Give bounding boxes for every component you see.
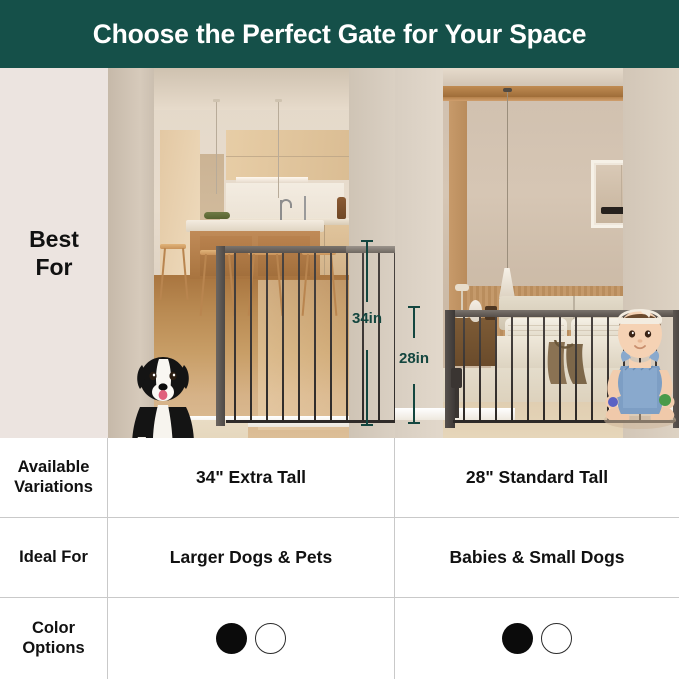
dimension-line-lower-34in: [366, 350, 368, 424]
row-label-color-options: Color Options: [0, 598, 108, 679]
dimension-callout-34in: 34in: [356, 238, 395, 428]
dimension-line-upper-34in: [366, 240, 368, 302]
kitchen-bowl-fruit: [204, 212, 230, 219]
color-swatch-group-28in: [502, 623, 572, 654]
row-label-line-1: Color: [22, 619, 84, 639]
kitchen-vase-dark: [337, 197, 346, 219]
kitchen-cabinet-seam: [226, 156, 366, 157]
table-row: Ideal For Larger Dogs & Pets Babies & Sm…: [0, 518, 679, 598]
gate-34in-bar: [250, 253, 252, 421]
gate-28in-bar: [559, 317, 561, 421]
hero-label-line-1: Best: [29, 225, 79, 253]
cell-variations-34in: 34" Extra Tall: [108, 438, 395, 517]
gate-28in-latch: [451, 368, 462, 388]
cell-ideal-for-28in: Babies & Small Dogs: [395, 518, 679, 597]
dimension-text-34in: 34in: [352, 310, 382, 327]
bedroom-pendant-cord: [507, 90, 508, 270]
bedroom-carpet: [443, 368, 623, 402]
gate-28in-bar: [495, 317, 497, 421]
gate-28in-bar: [527, 317, 529, 421]
kitchen-pendant-cord-2: [278, 102, 279, 198]
color-swatch-black[interactable]: [502, 623, 533, 654]
product-photo-kitchen-34in: 34in: [108, 68, 395, 438]
gate-28in-bar: [591, 317, 593, 421]
border-collie-dog-illustration: [114, 345, 210, 438]
dimension-line-upper-28in: [413, 306, 415, 338]
gate-28in-bar: [511, 317, 513, 421]
dimension-cap-bottom-34in: [361, 424, 373, 426]
cell-ideal-for-34in: Larger Dogs & Pets: [108, 518, 395, 597]
hero-label-line-2: For: [29, 253, 79, 281]
gate-34in-left-post: [216, 246, 225, 426]
page-header-banner: Choose the Perfect Gate for Your Space: [0, 0, 679, 68]
kitchen-faucet-arc: [280, 199, 292, 208]
kitchen-floating-shelf: [236, 177, 308, 183]
bedroom-draped-bag: [543, 340, 595, 386]
row-label-line-1: Available: [14, 458, 93, 478]
dimension-cap-bottom-28in: [408, 422, 420, 424]
bedroom-artwork-divider: [621, 165, 622, 223]
baby-illustration: [599, 304, 679, 429]
bedroom-crown-molding: [443, 86, 623, 97]
dimension-callout-28in: 28in: [403, 304, 443, 428]
row-label-line-1: Ideal For: [19, 548, 88, 568]
bedroom-pillow-stripe: [508, 325, 564, 326]
dimension-text-28in: 28in: [399, 350, 429, 367]
kitchen-upper-cabinets: [226, 130, 366, 180]
gate-28in-latch-rod: [455, 388, 459, 418]
gate-34in-bar: [234, 253, 236, 421]
color-swatch-white[interactable]: [255, 623, 286, 654]
dimension-line-lower-28in: [413, 384, 415, 424]
gate-28in-bar: [575, 317, 577, 421]
hero-row-label-text: Best For: [29, 225, 79, 281]
color-swatch-black[interactable]: [216, 623, 247, 654]
hero-row-label-best-for: Best For: [0, 68, 108, 438]
row-label-ideal-for: Ideal For: [0, 518, 108, 597]
row-label-line-2: Variations: [14, 478, 93, 498]
cell-colors-28in: [395, 598, 679, 679]
comparison-table: Available Variations 34" Extra Tall 28" …: [0, 438, 679, 679]
bedroom-pillow-stripe: [508, 330, 564, 331]
gate-34in-bar: [346, 253, 348, 421]
gate-28in-bar: [463, 317, 465, 421]
kitchen-ceiling: [154, 68, 349, 110]
table-row: Color Options: [0, 598, 679, 679]
row-label-line-2: Options: [22, 639, 84, 659]
cell-colors-34in: [108, 598, 395, 679]
bedroom-pendant-mount: [503, 88, 512, 92]
product-photo-bedroom-28in: 28in: [395, 68, 679, 438]
kitchen-island-panel-left: [200, 236, 252, 276]
bedroom-table-lamp-shade: [455, 284, 469, 291]
table-row: Available Variations 34" Extra Tall 28" …: [0, 438, 679, 518]
hero-comparison-band: Best For: [0, 68, 679, 438]
kitchen-pendant-cord-1: [216, 102, 217, 194]
gate-34in-bar: [266, 253, 268, 421]
bedroom-crown-molding-accent: [443, 97, 623, 101]
color-swatch-group-34in: [216, 623, 286, 654]
kitchen-pendant-mount-1: [213, 99, 220, 102]
color-swatch-white[interactable]: [541, 623, 572, 654]
gate-34in-bar: [330, 253, 332, 421]
row-label-available-variations: Available Variations: [0, 438, 108, 517]
gate-28in-bar: [543, 317, 545, 421]
gate-34in-bar: [282, 253, 284, 421]
gate-34in-bar: [314, 253, 316, 421]
gate-28in-bar: [479, 317, 481, 421]
gate-34in-bar: [298, 253, 300, 421]
kitchen-faucet-second: [304, 196, 306, 220]
cell-variations-28in: 28" Standard Tall: [395, 438, 679, 517]
kitchen-pendant-mount-2: [275, 99, 282, 102]
page-title: Choose the Perfect Gate for Your Space: [93, 19, 587, 50]
